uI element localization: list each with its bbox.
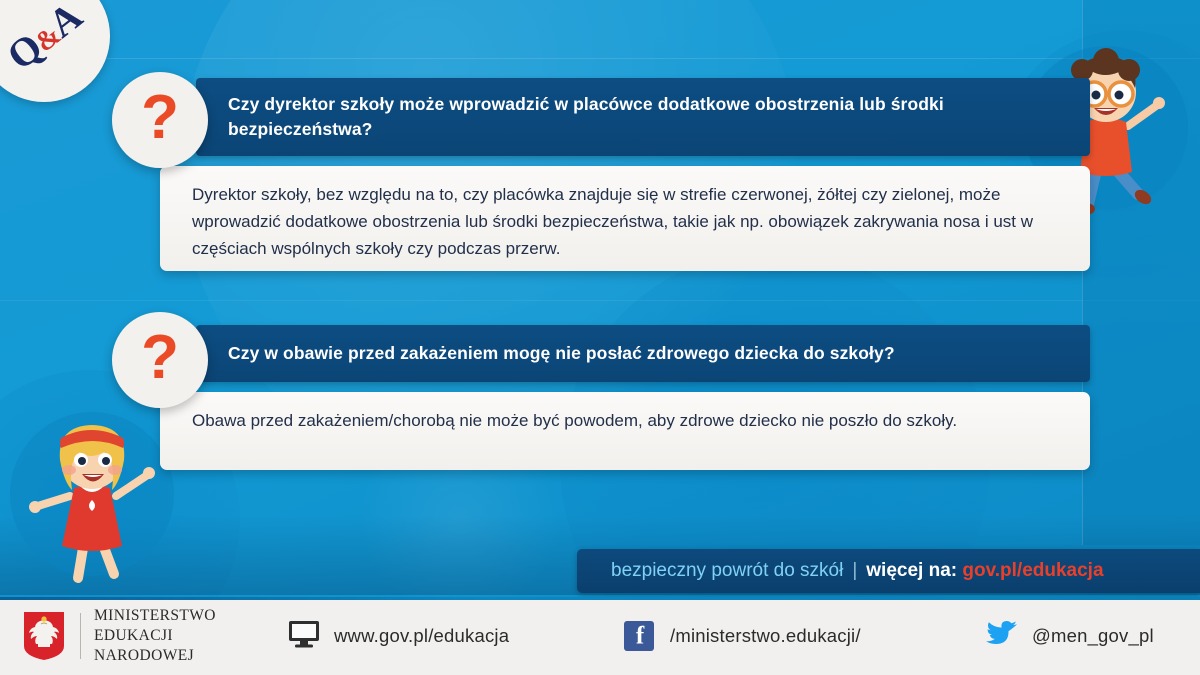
monitor-icon (288, 620, 320, 653)
slogan-more-label: więcej na: (866, 560, 957, 581)
slogan-more-url[interactable]: gov.pl/edukacja (957, 560, 1103, 581)
question-text-1: Czy dyrektor szkoły może wprowadzić w pl… (196, 92, 1090, 143)
twitter-icon (984, 620, 1018, 653)
facebook-icon: f (624, 621, 654, 651)
ministry-name: MINISTERSTWO EDUKACJI NARODOWEJ (94, 606, 216, 665)
question-marker-2: ? (112, 312, 208, 408)
question-bar-1: Czy dyrektor szkoły może wprowadzić w pl… (196, 78, 1090, 156)
slogan-separator: | (843, 560, 866, 581)
twitter-link[interactable]: @men_gov_pl (984, 620, 1154, 653)
facebook-link[interactable]: f /ministerstwo.edukacji/ (624, 621, 861, 651)
ministry-logo: MINISTERSTWO EDUKACJI NARODOWEJ (22, 606, 216, 665)
question-mark-icon: ? (141, 327, 179, 389)
answer-card-1: Dyrektor szkoły, bez względu na to, czy … (160, 166, 1090, 271)
qa-logo-text: Q&A (0, 0, 90, 79)
question-bar-2: Czy w obawie przed zakażeniem mogę nie p… (196, 325, 1090, 382)
answer-card-2: Obawa przed zakażeniem/chorobą nie może … (160, 392, 1090, 470)
website-link[interactable]: www.gov.pl/edukacja (288, 620, 509, 653)
facebook-label: /ministerstwo.edukacji/ (670, 625, 861, 647)
polish-eagle-crest-icon (22, 610, 66, 662)
logo-divider (80, 613, 81, 659)
girl-illustration (8, 408, 176, 588)
background-band (0, 58, 1200, 59)
footer-bar: MINISTERSTWO EDUKACJI NARODOWEJ www.gov.… (0, 597, 1200, 675)
website-label: www.gov.pl/edukacja (334, 625, 509, 647)
answer-text-2: Obawa przed zakażeniem/chorobą nie może … (160, 392, 1090, 451)
campaign-slogan-bar: bezpieczny powrót do szkół|więcej na: go… (577, 549, 1200, 593)
question-marker-1: ? (112, 72, 208, 168)
background-band (0, 300, 1200, 301)
slogan-campaign-text: bezpieczny powrót do szkół (611, 560, 843, 581)
slogan-inner: bezpieczny powrót do szkół|więcej na: go… (577, 560, 1104, 582)
footer-top-edge (0, 597, 1200, 600)
ministry-line-1: MINISTERSTWO (94, 606, 216, 626)
ministry-line-3: NARODOWEJ (94, 646, 216, 666)
twitter-label: @men_gov_pl (1032, 625, 1154, 647)
question-text-2: Czy w obawie przed zakażeniem mogę nie p… (196, 341, 921, 366)
question-mark-icon: ? (141, 87, 179, 149)
answer-text-1: Dyrektor szkoły, bez względu na to, czy … (160, 166, 1090, 279)
ministry-line-2: EDUKACJI (94, 626, 216, 646)
